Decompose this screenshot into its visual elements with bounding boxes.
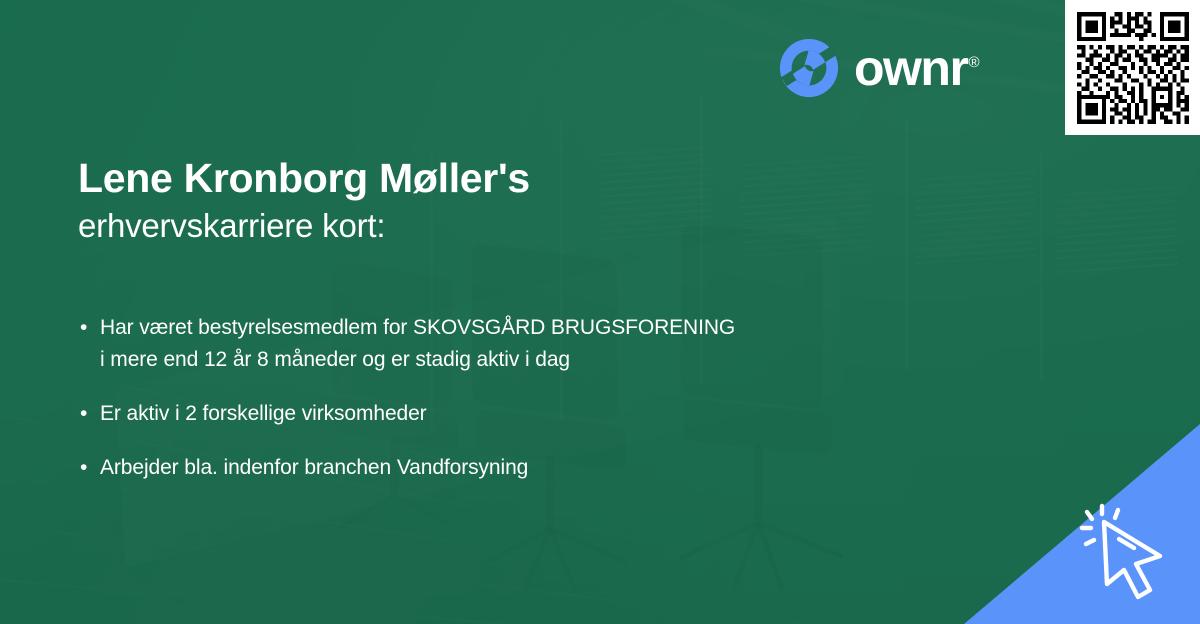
bullet-dot-icon: • <box>80 398 100 430</box>
qr-code-image <box>1073 8 1193 128</box>
mouse-cursor-click-icon <box>1074 498 1182 606</box>
list-item-text: Er aktiv i 2 forskellige virksomheder <box>100 398 1040 430</box>
qr-code[interactable] <box>1065 0 1200 135</box>
registered-trademark-symbol: ® <box>968 54 979 71</box>
page-title: Lene Kronborg Møller's erhvervskarriere … <box>78 152 530 248</box>
list-item-text: Arbejder bla. indenfor branchen Vandfors… <box>100 452 1040 484</box>
ownr-circular-swirl-logo-icon <box>778 37 840 99</box>
list-item: • Er aktiv i 2 forskellige virksomheder <box>80 398 1040 430</box>
list-item: • Har været bestyrelsesmedlem for SKOVSG… <box>80 312 1040 376</box>
business-career-card: ownr® Lene Kronborg Møller's erhvervskar… <box>0 0 1200 624</box>
bullet-dot-icon: • <box>80 452 100 484</box>
bullet-dot-icon: • <box>80 312 100 344</box>
list-item-text: Har været bestyrelsesmedlem for SKOVSGÅR… <box>100 312 1040 376</box>
brand-name: ownr <box>854 40 967 96</box>
list-item: • Arbejder bla. indenfor branchen Vandfo… <box>80 452 1040 484</box>
brand-logo[interactable]: ownr® <box>778 32 980 104</box>
career-summary-list: • Har været bestyrelsesmedlem for SKOVSG… <box>80 312 1040 506</box>
page-title-name: Lene Kronborg Møller's <box>78 152 530 204</box>
brand-wordmark: ownr® <box>854 43 980 93</box>
page-title-subtitle: erhvervskarriere kort: <box>78 204 530 248</box>
